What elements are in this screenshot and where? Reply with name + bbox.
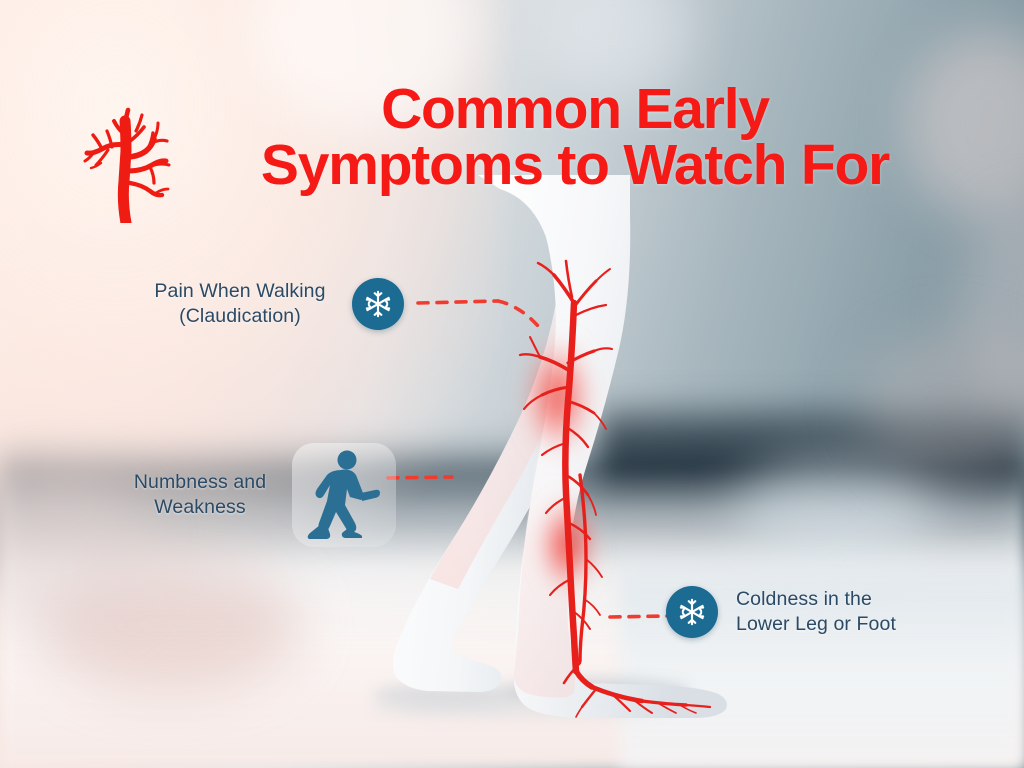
infographic-canvas: Common Early Symptoms to Watch For Pain …: [0, 0, 1024, 768]
callout-label: Pain When Walking (Claudication): [142, 279, 338, 329]
callout-coldness-lower-leg-foot[interactable]: Coldness in the Lower Leg or Foot: [666, 586, 896, 638]
walking-person-icon[interactable]: [292, 443, 396, 547]
snowflake-icon[interactable]: [666, 586, 718, 638]
callout-label: Numbness and Weakness: [120, 470, 280, 520]
bokeh-highlight: [735, 455, 935, 565]
callout-line-1: Coldness in the: [736, 587, 896, 612]
callout-label: Coldness in the Lower Leg or Foot: [736, 587, 896, 637]
callout-line-2: Lower Leg or Foot: [736, 612, 896, 637]
callout-line-1: Numbness and: [120, 470, 280, 495]
callout-line-1: Pain When Walking: [142, 279, 338, 304]
callout-numbness-and-weakness[interactable]: Numbness and Weakness: [120, 443, 396, 547]
callout-line-2: (Claudication): [142, 304, 338, 329]
title-line-1: Common Early: [381, 77, 769, 141]
callout-line-2: Weakness: [120, 495, 280, 520]
callout-pain-when-walking[interactable]: Pain When Walking (Claudication): [142, 278, 404, 330]
title-line-2: Symptoms to Watch For: [170, 138, 980, 194]
page-title: Common Early Symptoms to Watch For: [170, 82, 980, 194]
snowflake-icon[interactable]: [352, 278, 404, 330]
